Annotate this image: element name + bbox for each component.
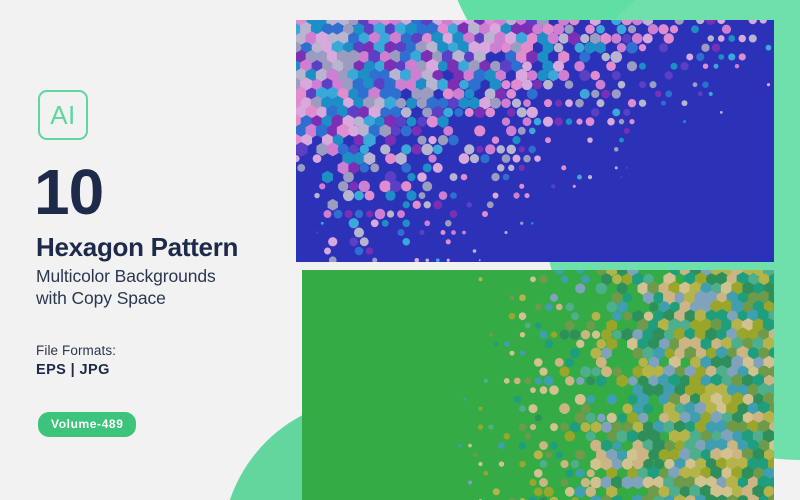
page-title: Hexagon Pattern	[36, 234, 238, 260]
poster-canvas: AI 10 Hexagon Pattern Multicolor Backgro…	[0, 0, 800, 500]
green-hexagon-preview	[302, 270, 774, 500]
file-formats-label: File Formats:	[36, 343, 116, 358]
ai-format-badge: AI	[38, 90, 88, 140]
info-panel: AI 10 Hexagon Pattern Multicolor Backgro…	[0, 0, 296, 500]
page-subtitle: Multicolor Backgrounds with Copy Space	[36, 266, 216, 309]
green-hexagon-pattern	[302, 270, 774, 500]
volume-badge: Volume-489	[38, 412, 136, 437]
page-subtitle-line-2: with Copy Space	[36, 288, 216, 310]
file-formats-value: EPS | JPG	[36, 362, 110, 378]
page-subtitle-line-1: Multicolor Backgrounds	[36, 266, 216, 288]
blue-hexagon-pattern	[296, 20, 774, 262]
ai-badge-label: AI	[50, 102, 76, 128]
item-count: 10	[34, 160, 103, 224]
blue-hexagon-preview	[296, 20, 774, 262]
